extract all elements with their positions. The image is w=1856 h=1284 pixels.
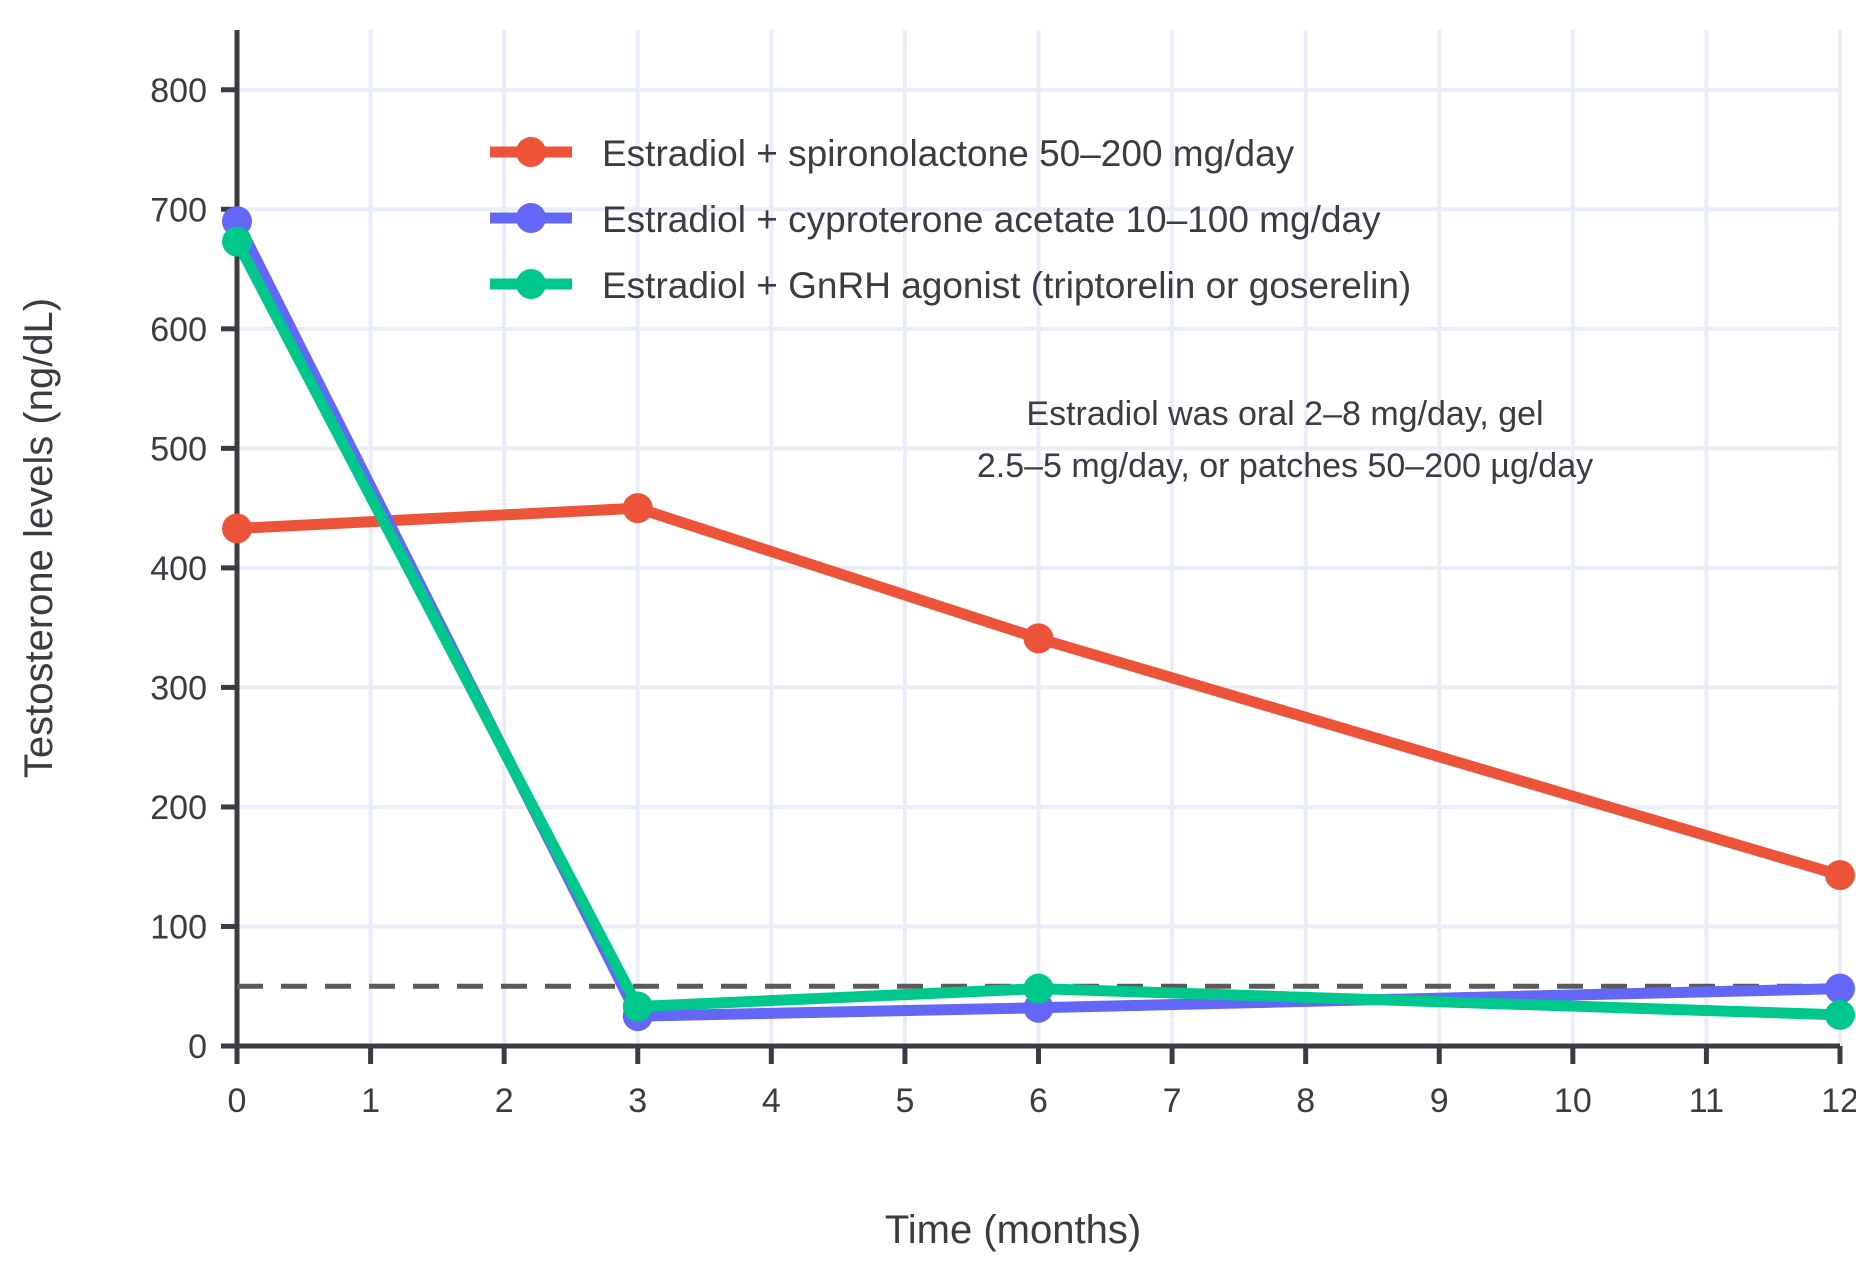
x-tick-label: 6: [1029, 1082, 1048, 1120]
x-tick-label: 5: [895, 1082, 914, 1120]
x-tick-label: 12: [1821, 1082, 1856, 1120]
data-point-marker: [1825, 1000, 1855, 1030]
estradiol-dosing-note-line-2: 2.5–5 mg/day, or patches 50–200 µg/day: [977, 447, 1593, 485]
x-tick-label: 2: [495, 1082, 514, 1120]
y-tick-label: 400: [150, 550, 207, 588]
x-tick-label: 0: [228, 1082, 247, 1120]
x-tick-label: 1: [361, 1082, 380, 1120]
legend-item-label: Estradiol + GnRH agonist (triptorelin or…: [602, 265, 1411, 306]
y-tick-label: 700: [150, 191, 207, 229]
x-tick-label: 11: [1689, 1082, 1724, 1120]
legend-item-label: Estradiol + cyproterone acetate 10–100 m…: [602, 199, 1381, 240]
legend-swatch-marker: [516, 269, 546, 299]
data-point-marker: [623, 992, 653, 1022]
x-tick-label: 10: [1554, 1082, 1592, 1120]
testosterone-line-chart: 0100200300400500600700800 01234567891011…: [0, 0, 1856, 1284]
y-tick-label: 600: [150, 311, 207, 349]
chart-figure: 0100200300400500600700800 01234567891011…: [0, 0, 1856, 1284]
y-tick-label: 100: [150, 908, 207, 946]
estradiol-dosing-note-line-1: Estradiol was oral 2–8 mg/day, gel: [1026, 395, 1543, 433]
y-tick-label: 800: [150, 72, 207, 110]
data-point-marker: [623, 493, 653, 523]
x-axis-title: Time (months): [885, 1208, 1141, 1252]
x-tick-label: 9: [1430, 1082, 1449, 1120]
legend-swatch-marker: [516, 203, 546, 233]
y-tick-label: 0: [188, 1028, 207, 1066]
data-point-marker: [1024, 623, 1054, 653]
x-tick-label: 3: [628, 1082, 647, 1120]
chart-legend: Estradiol + spironolactone 50–200 mg/day…: [490, 133, 1411, 306]
y-axis-tick-labels: 0100200300400500600700800: [150, 72, 207, 1066]
data-point-marker: [222, 227, 252, 257]
x-tick-label: 4: [762, 1082, 781, 1120]
y-tick-label: 500: [150, 430, 207, 468]
data-point-marker: [1024, 974, 1054, 1004]
y-tick-label: 200: [150, 789, 207, 827]
data-point-marker: [1825, 974, 1855, 1004]
legend-swatch-marker: [516, 137, 546, 167]
y-tick-label: 300: [150, 669, 207, 707]
data-point-marker: [222, 513, 252, 543]
legend-item-label: Estradiol + spironolactone 50–200 mg/day: [602, 133, 1295, 174]
data-point-marker: [1825, 860, 1855, 890]
y-axis-title: Testosterone levels (ng/dL): [17, 298, 61, 778]
x-tick-label: 7: [1163, 1082, 1182, 1120]
x-tick-label: 8: [1296, 1082, 1315, 1120]
